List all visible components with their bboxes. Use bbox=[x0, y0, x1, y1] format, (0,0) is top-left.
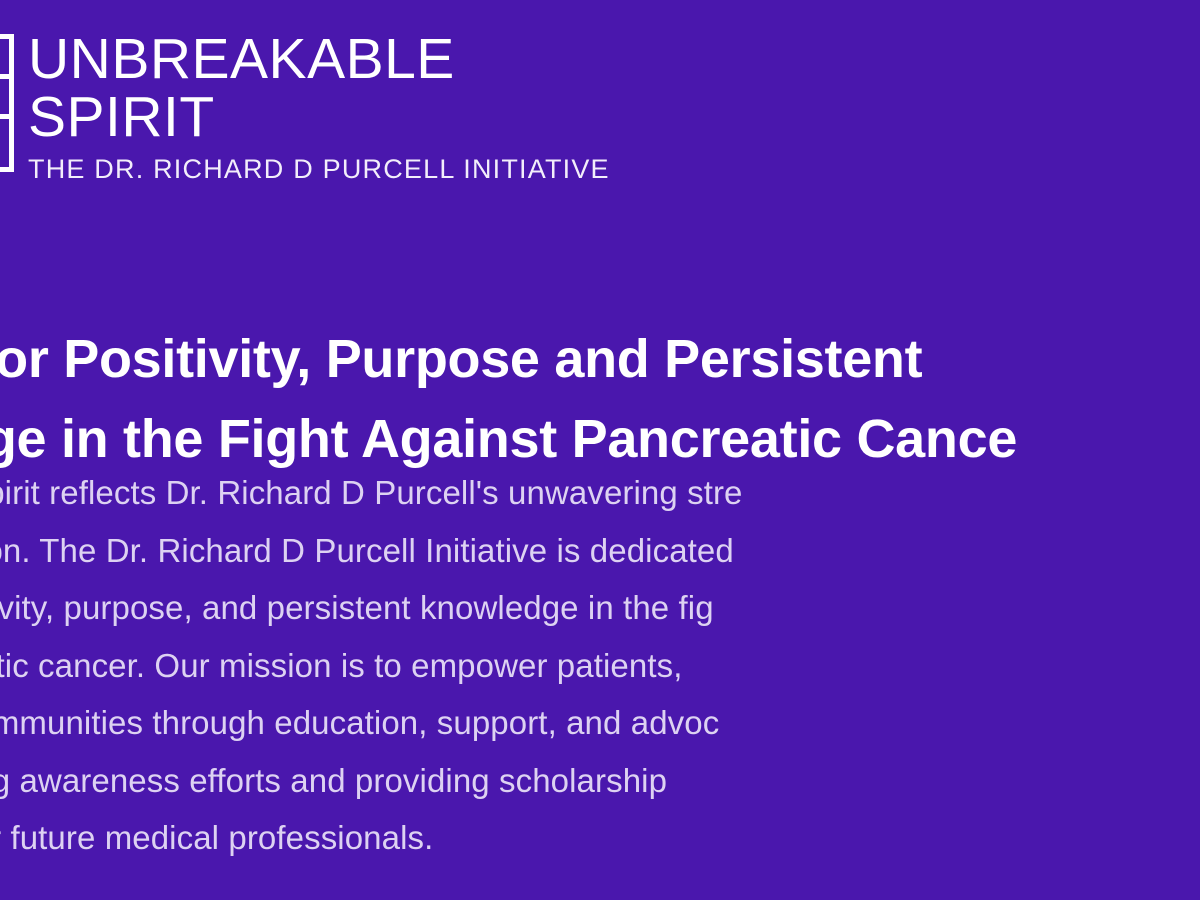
body-line: t pancreatic cancer. Our mission is to e… bbox=[0, 637, 1200, 695]
body-line: expanding awareness efforts and providin… bbox=[0, 752, 1200, 810]
hero-page: UNBREAKABLE SPIRIT THE DR. RICHARD D PUR… bbox=[0, 0, 1200, 900]
body-line: akable Spirit reflects Dr. Richard D Pur… bbox=[0, 464, 1200, 522]
body-line: s, and communities through education, su… bbox=[0, 694, 1200, 752]
body-line: ting positivity, purpose, and persistent… bbox=[0, 579, 1200, 637]
site-logo[interactable]: UNBREAKABLE SPIRIT THE DR. RICHARD D PUR… bbox=[0, 30, 610, 186]
body-line: termination. The Dr. Richard D Purcell I… bbox=[0, 522, 1200, 580]
headline-line: ting for Positivity, Purpose and Persist… bbox=[0, 319, 1200, 399]
body-line: unities for future medical professionals… bbox=[0, 809, 1200, 867]
logo-wordmark-line-2: SPIRIT bbox=[28, 88, 610, 146]
unbreakable-spirit-bars-mark-icon bbox=[0, 34, 14, 172]
mission-paragraph: akable Spirit reflects Dr. Richard D Pur… bbox=[0, 464, 1200, 867]
logo-tagline: THE DR. RICHARD D PURCELL INITIATIVE bbox=[28, 152, 610, 186]
page-title: ting for Positivity, Purpose and Persist… bbox=[0, 319, 1200, 479]
logo-wordmark-line-1: UNBREAKABLE bbox=[28, 30, 610, 88]
logo-text: UNBREAKABLE SPIRIT THE DR. RICHARD D PUR… bbox=[28, 30, 610, 186]
